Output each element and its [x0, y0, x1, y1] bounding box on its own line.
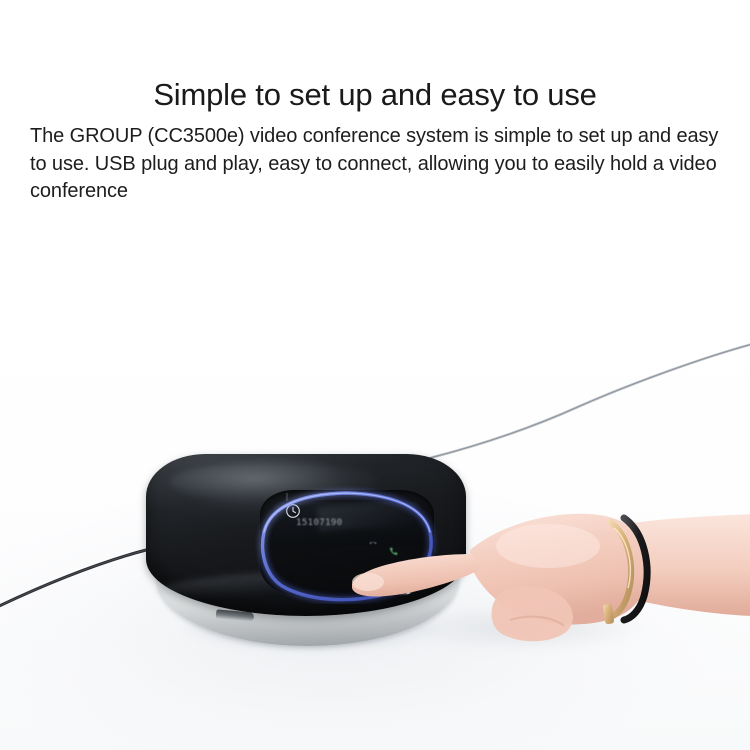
description-paragraph: The GROUP (CC3500e) video conference sys… [0, 123, 750, 206]
text-block: Simple to set up and easy to use The GRO… [0, 76, 750, 206]
knuckle-highlight [496, 524, 600, 568]
product-photo: 15107190 [0, 330, 750, 750]
hand-pressing-device[interactable] [352, 488, 750, 678]
page-title: Simple to set up and easy to use [0, 76, 750, 114]
product-feature-page: Simple to set up and easy to use The GRO… [0, 0, 750, 750]
fingertip-highlight [352, 573, 384, 591]
